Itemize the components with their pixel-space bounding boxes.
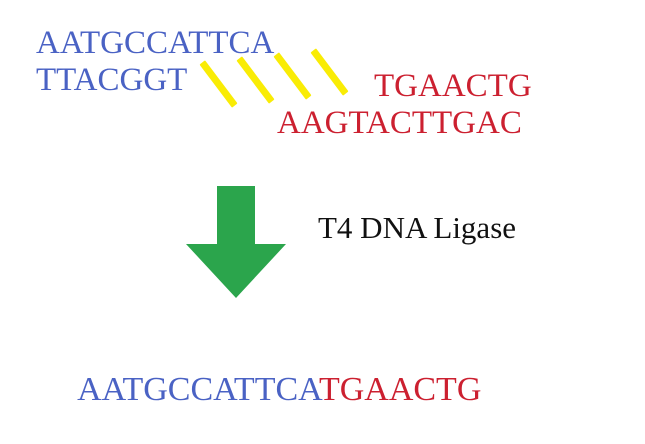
product-top-strand-blue: AATGCCATTCA (77, 371, 319, 408)
figure-canvas: AATGCCATTCA TTACGGT TGAACTG AAGTACTTGAC … (0, 0, 645, 444)
hybridisation-mark-1 (199, 60, 237, 107)
hybridisation-mark-3 (273, 52, 311, 99)
left-fragment-bottom-strand: TTACGGT (36, 64, 187, 97)
right-fragment-top-strand: TGAACTG (374, 70, 532, 103)
product-top-strand: AATGCCATTCATGAACTG (28, 334, 484, 444)
right-fragment-bottom-strand: AAGTACTTGAC (277, 107, 522, 140)
bottom-panel: AATGCCATTCATGAACTG TTACGGTAAGTACTTGAC (28, 334, 484, 444)
hybridisation-mark-2 (236, 56, 274, 103)
enzyme-label: T4 DNA Ligase (318, 210, 516, 246)
left-fragment-top-strand: AATGCCATTCA (36, 27, 274, 60)
down-arrow-icon (186, 186, 286, 298)
product-top-strand-red: TGAACTG (319, 371, 481, 408)
hybridisation-mark-4 (310, 48, 348, 95)
